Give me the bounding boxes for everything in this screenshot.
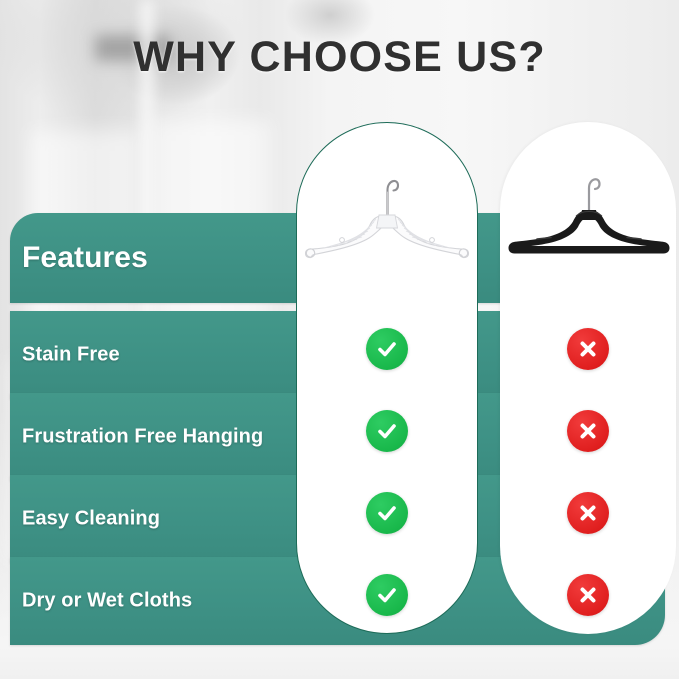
clear-plastic-hanger-image [302, 158, 472, 263]
feature-label-frustration-free-hanging: Frustration Free Hanging [22, 426, 263, 449]
features-header-label: Features [22, 241, 148, 275]
cross-icon [567, 492, 609, 534]
cross-icon [567, 328, 609, 370]
check-icon [366, 410, 408, 452]
check-icon [366, 328, 408, 370]
check-icon [366, 574, 408, 616]
feature-label-dry-or-wet-cloths: Dry or Wet Cloths [22, 590, 192, 613]
cross-icon [567, 574, 609, 616]
check-icon [366, 492, 408, 534]
black-velvet-hanger-image [506, 158, 672, 263]
feature-label-easy-cleaning: Easy Cleaning [22, 508, 160, 531]
feature-label-stain-free: Stain Free [22, 344, 120, 367]
cross-icon [567, 410, 609, 452]
